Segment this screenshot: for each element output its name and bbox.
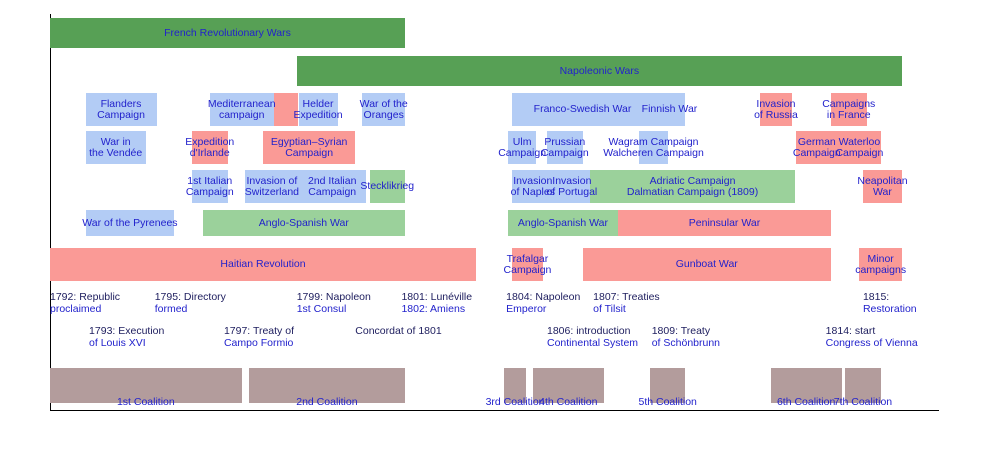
event-line-1: Concordat of 1801 — [355, 326, 441, 338]
timeline-bar: Finnish War — [654, 93, 686, 126]
timeline-bar: German Campaign — [796, 131, 839, 164]
timeline-bar-label: Napoleonic Wars — [560, 66, 640, 77]
timeline-bar: Trafalgar Campaign — [512, 248, 544, 281]
timeline-bar-label: Adriatic Campaign Dalmatian Campaign (18… — [627, 176, 758, 197]
timeline-bar: Egyptian–Syrian Campaign — [263, 131, 355, 164]
timeline-bar-label: Franco-Swedish War — [534, 104, 632, 115]
event-line-1: 1799: Napoleon — [297, 292, 371, 304]
timeline-bar-label: Invasion of Switzerland — [245, 176, 299, 197]
timeline-bar-label: Helder Expedition — [294, 99, 343, 120]
timeline-bar-label: Anglo-Spanish War — [518, 218, 608, 229]
timeline-bar-label: Waterloo Campaign — [835, 137, 883, 158]
event-note-upper: 1804: NapoleonEmperor — [506, 292, 580, 316]
event-note-lower: 1793: Executionof Louis XVI — [89, 326, 164, 350]
coalition-label: 5th Coalition — [639, 396, 697, 408]
timeline-bar-label: Expedition d'Irlande — [185, 137, 234, 158]
event-note-lower: 1806: introductionContinental System — [547, 326, 638, 350]
timeline-bar: Haitian Revolution — [50, 248, 476, 281]
event-line-2: 1802: Amiens — [401, 304, 472, 316]
timeline-bar-label: Trafalgar Campaign — [504, 254, 552, 275]
event-line-2: of Louis XVI — [89, 338, 164, 350]
coalition-label: 4th Coalition — [539, 396, 597, 408]
timeline-bar-label: Campaigns in France — [822, 99, 875, 120]
event-line-1: 1801: Lunéville — [401, 292, 472, 304]
event-note-lower: 1814: startCongress of Vienna — [826, 326, 918, 350]
event-line-1: 1809: Treaty — [652, 326, 720, 338]
event-line-1: 1815: — [863, 292, 917, 304]
timeline-bar-label: German Campaign — [793, 137, 841, 158]
timeline-bar-label: Stecklikrieg — [360, 181, 414, 192]
timeline-bar-label: Haitian Revolution — [220, 259, 305, 270]
timeline-bar: Helder Expedition — [299, 93, 338, 126]
timeline-bar: War in the Vendée — [86, 131, 146, 164]
timeline-bar: Gunboat War — [583, 248, 832, 281]
timeline-bar-label: Minor campaigns — [855, 254, 906, 275]
timeline-bar-label: Flanders Campaign — [97, 99, 145, 120]
event-line-1: 1795: Directory — [155, 292, 226, 304]
timeline-bar: Expedition d'Irlande — [192, 131, 228, 164]
timeline-bar-label: War of the Oranges — [360, 99, 408, 120]
timeline-bar: Invasion of Russia — [760, 93, 792, 126]
event-line-2: formed — [155, 304, 226, 316]
event-line-2: Congress of Vienna — [826, 338, 918, 350]
event-note-upper: 1807: Treatiesof Tilsit — [593, 292, 660, 316]
timeline-bar: Prussian Campaign — [547, 131, 583, 164]
event-line-1: 1814: start — [826, 326, 918, 338]
timeline-bar-label: Mediterranean campaign — [208, 99, 276, 120]
timeline-bar: Napoleonic Wars — [297, 56, 902, 86]
event-note-upper: 1792: Republicproclaimed — [50, 292, 120, 316]
event-line-1: 1792: Republic — [50, 292, 120, 304]
timeline-bar-label: French Revolutionary Wars — [164, 28, 291, 39]
event-note-upper: 1801: Lunéville1802: Amiens — [401, 292, 472, 316]
timeline-bar: Flanders Campaign — [86, 93, 157, 126]
timeline-bar: Invasion of Switzerland — [245, 170, 298, 203]
timeline-bar-label: Prussian Campaign — [541, 137, 589, 158]
timeline-bar-label: Neapolitan War — [857, 176, 907, 197]
event-line-2: Continental System — [547, 338, 638, 350]
timeline-bar: Franco-Swedish War — [512, 93, 654, 126]
timeline-bar-label: War in the Vendée — [89, 137, 142, 158]
event-line-1: 1806: introduction — [547, 326, 638, 338]
timeline-bar: Neapolitan War — [863, 170, 902, 203]
timeline-bar: Campaigns in France — [831, 93, 867, 126]
event-note-lower: 1809: Treatyof Schönbrunn — [652, 326, 720, 350]
timeline-bar-label: Finnish War — [642, 104, 698, 115]
timeline-bar: War of the Oranges — [362, 93, 405, 126]
timeline-bar-label: Egyptian–Syrian Campaign — [271, 137, 347, 158]
coalition-label: 3rd Coalition — [486, 396, 545, 408]
coalition-label: 1st Coalition — [117, 396, 175, 408]
timeline-bar: Invasion of Portugal — [554, 170, 590, 203]
coalition-label: 6th Coalition — [777, 396, 835, 408]
event-line-1: 1797: Treaty of — [224, 326, 294, 338]
coalition-label: 2nd Coalition — [296, 396, 357, 408]
timeline-chart: French Revolutionary WarsNapoleonic Wars… — [0, 0, 1000, 450]
event-line-2: of Tilsit — [593, 304, 660, 316]
event-note-upper: 1795: Directoryformed — [155, 292, 226, 316]
event-line-2: of Schönbrunn — [652, 338, 720, 350]
event-line-1: 1807: Treaties — [593, 292, 660, 304]
event-note-upper: 1815:Restoration — [863, 292, 917, 316]
event-note-lower: Concordat of 1801 — [355, 326, 441, 338]
event-line-2: Restoration — [863, 304, 917, 316]
event-note-upper: 1799: Napoleon1st Consul — [297, 292, 371, 316]
timeline-bar-label: Invasion of Russia — [754, 99, 798, 120]
timeline-bar: Ulm Campaign — [508, 131, 536, 164]
timeline-bar: Wagram Campaign Walcheren Campaign — [639, 131, 667, 164]
timeline-bar-label: 1st Italian Campaign — [186, 176, 234, 197]
timeline-bar: War of the Pyrenees — [86, 210, 175, 236]
event-line-2: proclaimed — [50, 304, 120, 316]
timeline-bar: Waterloo Campaign — [838, 131, 881, 164]
event-line-2: Campo Formio — [224, 338, 294, 350]
timeline-bar: Adriatic Campaign Dalmatian Campaign (18… — [590, 170, 796, 203]
timeline-bar: Anglo-Spanish War — [508, 210, 618, 236]
coalition-label: 7th Coalition — [834, 396, 892, 408]
timeline-bar-label: 2nd Italian Campaign — [308, 176, 356, 197]
timeline-bar-label: Peninsular War — [689, 218, 760, 229]
timeline-bar: Minor campaigns — [859, 248, 902, 281]
vertical-axis-line — [50, 14, 51, 411]
timeline-bar-label: Gunboat War — [676, 259, 738, 270]
timeline-bar-label: Anglo-Spanish War — [259, 218, 349, 229]
timeline-bar-label: Invasion of Portugal — [546, 176, 597, 197]
event-note-lower: 1797: Treaty ofCampo Formio — [224, 326, 294, 350]
timeline-bar: Peninsular War — [618, 210, 831, 236]
timeline-bar-label: War of the Pyrenees — [82, 218, 177, 229]
horizontal-axis-line — [50, 410, 939, 411]
event-line-1: 1804: Napoleon — [506, 292, 580, 304]
event-line-2: Emperor — [506, 304, 580, 316]
timeline-bar: Stecklikrieg — [370, 170, 406, 203]
timeline-bar: Anglo-Spanish War — [203, 210, 405, 236]
timeline-bar: 1st Italian Campaign — [192, 170, 228, 203]
timeline-bar: French Revolutionary Wars — [50, 18, 405, 48]
event-line-1: 1793: Execution — [89, 326, 164, 338]
timeline-bar: 2nd Italian Campaign — [299, 170, 366, 203]
timeline-bar-label: Ulm Campaign — [498, 137, 546, 158]
timeline-bar-label: Wagram Campaign Walcheren Campaign — [603, 137, 704, 158]
event-line-2: 1st Consul — [297, 304, 371, 316]
timeline-bar: Mediterranean campaign — [210, 93, 274, 126]
